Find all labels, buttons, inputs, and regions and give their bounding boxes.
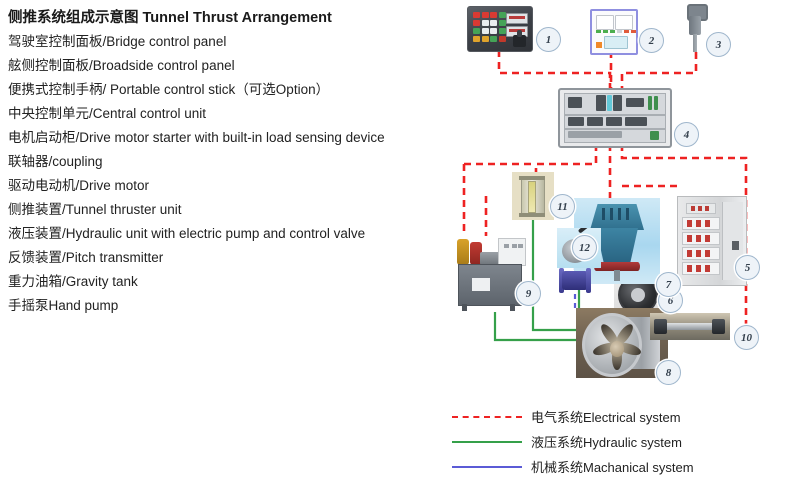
tunnel-thrust-arrangement-diagram: 侧推系统组成示意图 Tunnel Thrust Arrangement 驾驶室控… [0, 0, 788, 490]
badge-10-pitch-transmitter: 10 [734, 325, 759, 350]
gravity-tank-image [512, 172, 554, 220]
electrical-line-swatch-icon [452, 416, 522, 418]
list-item-portable-control-stick: 便携式控制手柄/ Portable control stick（可选Option… [8, 78, 458, 102]
legend-label-electrical: 电气系统Electrical system [531, 407, 681, 426]
central-control-unit-image [558, 88, 672, 148]
cabinet-handle-icon [732, 241, 739, 250]
panel-window-left-icon [596, 15, 614, 30]
list-item-drive-motor-starter: 电机启动柜/Drive motor starter with built-in … [8, 126, 458, 150]
badge-11-gravity-tank: 11 [550, 194, 575, 219]
system-legend: 电气系统Electrical system 液压系统Hydraulic syst… [452, 404, 694, 479]
panel-window-right-icon [615, 15, 633, 30]
component-list: 侧推系统组成示意图 Tunnel Thrust Arrangement 驾驶室控… [8, 6, 458, 318]
sight-glass-icon [528, 181, 536, 213]
status-leds-icon [596, 30, 636, 33]
diagram-canvas: 1 2 3 [450, 0, 788, 400]
nameplate-icon [472, 278, 490, 291]
page-title: 侧推系统组成示意图 Tunnel Thrust Arrangement [8, 6, 458, 30]
legend-row-electrical: 电气系统Electrical system [452, 404, 694, 429]
power-button-icon [596, 42, 602, 48]
badge-12-hand-pump: 12 [572, 235, 597, 260]
control-box-icon [498, 238, 526, 266]
legend-row-mechanical: 机械系统Machanical system [452, 454, 694, 479]
stick-cord-icon [693, 34, 697, 52]
badge-3-portable-control-stick: 3 [706, 32, 731, 57]
badge-9-hydraulic-unit: 9 [516, 281, 541, 306]
shaft-coupling-image [554, 268, 596, 294]
button-grid-icon [473, 12, 506, 42]
badge-5-drive-motor-starter: 5 [735, 255, 760, 280]
transmitter-rod-icon [658, 323, 720, 330]
stick-body-icon [689, 16, 701, 35]
list-item-pitch-transmitter: 反馈装置/Pitch transmitter [8, 246, 458, 270]
display-upper-icon [506, 13, 528, 24]
shaft-coupling-body-icon [562, 271, 588, 290]
list-item-tunnel-thruster-unit: 侧推装置/Tunnel thruster unit [8, 198, 458, 222]
legend-label-hydraulic: 液压系统Hydraulic system [531, 432, 682, 451]
hydraulic-line-swatch-icon [452, 441, 522, 443]
badge-1-bridge-control-panel: 1 [536, 27, 561, 52]
motor-shaft-icon [614, 270, 620, 281]
bridge-control-panel-image [467, 6, 533, 52]
list-item-bridge-control-panel: 驾驶室控制面板/Bridge control panel [8, 30, 458, 54]
list-item-hand-pump: 手摇泵Hand pump [8, 294, 458, 318]
legend-label-mechanical: 机械系统Machanical system [531, 457, 694, 476]
list-item-hydraulic-unit: 液压装置/Hydraulic unit with electric pump a… [8, 222, 458, 246]
motor-housing-icon [590, 204, 644, 230]
pitch-transmitter-image [650, 313, 730, 340]
oil-tank-icon [458, 264, 522, 306]
badge-2-broadside-control-panel: 2 [639, 28, 664, 53]
badge-7-drive-motor: 7 [656, 272, 681, 297]
badge-4-central-control-unit: 4 [674, 122, 699, 147]
badge-8-tunnel-thruster-unit: 8 [656, 360, 681, 385]
portable-control-stick-image [684, 4, 708, 54]
broadside-control-panel-image [590, 9, 638, 55]
list-item-drive-motor: 驱动电动机/Drive motor [8, 174, 458, 198]
list-item-coupling: 联轴器/coupling [8, 150, 458, 174]
pump-handle-icon [578, 228, 595, 234]
filter-yellow-icon [457, 239, 469, 265]
list-item-gravity-tank: 重力油箱/Gravity tank [8, 270, 458, 294]
motor-body-icon [596, 228, 638, 262]
legend-row-hydraulic: 液压系统Hydraulic system [452, 429, 694, 454]
propeller-hub-icon [610, 341, 624, 357]
list-item-broadside-control-panel: 舷侧控制面板/Broadside control panel [8, 54, 458, 78]
thruster-rim-icon [582, 313, 642, 377]
joystick-icon [513, 35, 526, 47]
mechanical-line-swatch-icon [452, 466, 522, 468]
keypad-icon [604, 36, 628, 49]
list-item-central-control-unit: 中央控制单元/Central control unit [8, 102, 458, 126]
